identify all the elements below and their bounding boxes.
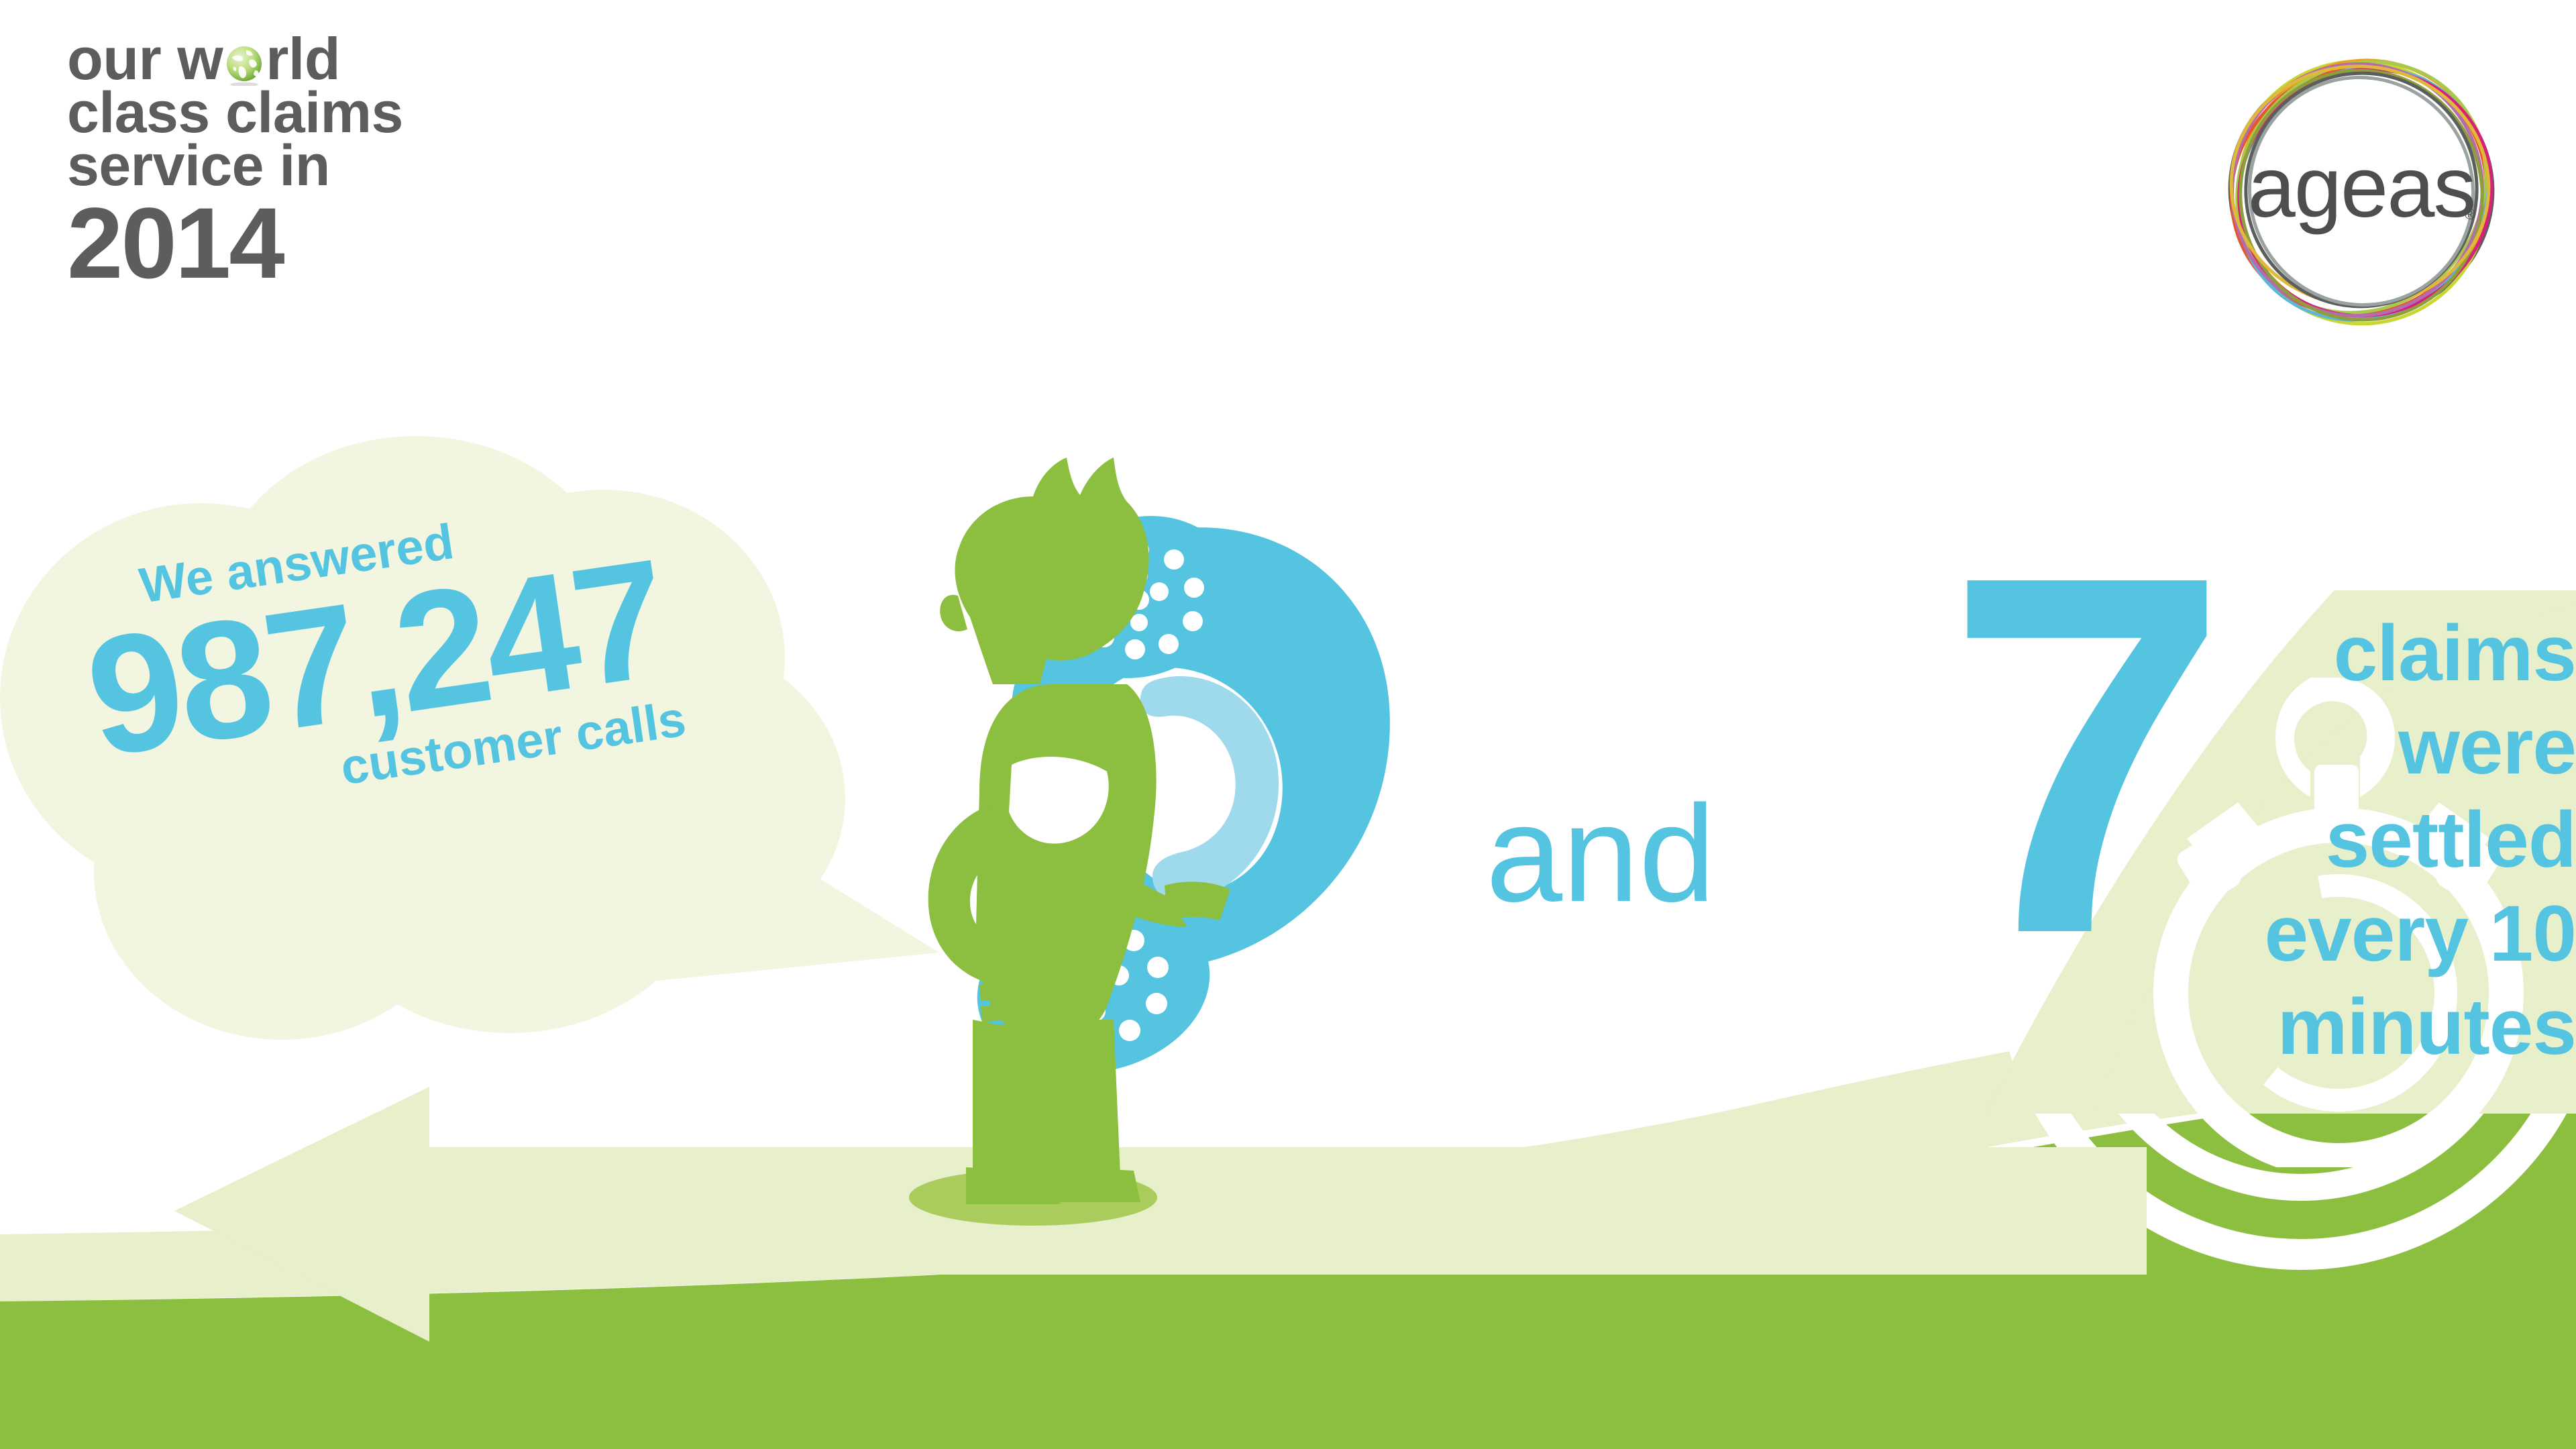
claims-line-3: settled: [2147, 794, 2576, 887]
claims-stat-lines: claims were settled every 10 minutes: [2147, 607, 2576, 1074]
claims-line-2: were: [2147, 700, 2576, 794]
infographic-canvas: 7 claims were settled every 10 minutes: [0, 0, 2576, 1449]
registered-mark: ®: [2465, 206, 2475, 223]
title-line-3: service in: [67, 140, 671, 193]
person-with-telephone-illustration: [839, 416, 1442, 1261]
claims-line-4: every 10: [2147, 888, 2576, 981]
and-connector-text: and: [1486, 785, 1715, 922]
claims-line-1: claims: [2147, 607, 2576, 700]
ageas-logo[interactable]: ageas ®: [2207, 37, 2516, 345]
page-title: our w: [67, 32, 671, 289]
title-line-1: our w: [67, 32, 671, 87]
claims-line-5: minutes: [2147, 981, 2576, 1074]
title-year: 2014: [67, 197, 671, 289]
globe-icon: [223, 44, 265, 86]
title-line-2: class claims: [67, 87, 671, 140]
speech-bubble: [0, 402, 953, 1060]
ageas-wordmark: ageas: [2248, 140, 2475, 235]
